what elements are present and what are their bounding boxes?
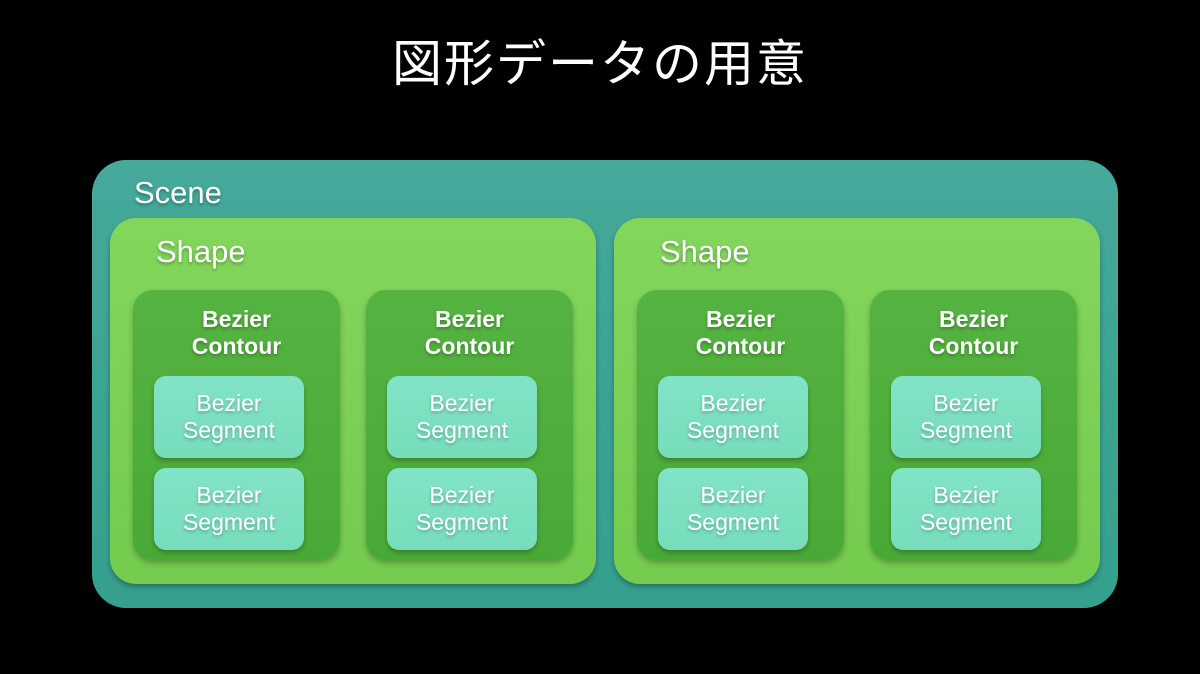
bezier-contour-container: Bezier Contour Bezier Segment Bezi (637, 290, 844, 560)
bezier-segment-label: Bezier Segment (183, 390, 275, 444)
contour-label-line1: Bezier (202, 306, 271, 332)
segment-stack: Bezier Segment Bezier Segment (891, 376, 1041, 550)
segment-label-line2: Segment (416, 509, 508, 535)
bezier-segment-label: Bezier Segment (920, 390, 1012, 444)
segment-label-line1: Bezier (933, 482, 998, 508)
bezier-segment: Bezier Segment (387, 468, 537, 550)
bezier-contour-label: Bezier Contour (133, 306, 340, 360)
bezier-segment-label: Bezier Segment (687, 482, 779, 536)
contour-row: Bezier Contour Bezier Segment Bezi (637, 290, 1077, 560)
contour-label-line2: Contour (696, 333, 785, 359)
segment-label-line2: Segment (416, 417, 508, 443)
shape-container: Shape Bezier Contour Bezier Segment (614, 218, 1100, 584)
bezier-segment: Bezier Segment (154, 376, 304, 458)
bezier-segment-label: Bezier Segment (416, 390, 508, 444)
scene-label: Scene (134, 176, 222, 210)
bezier-segment: Bezier Segment (658, 468, 808, 550)
bezier-contour-container: Bezier Contour Bezier Segment Bezi (133, 290, 340, 560)
bezier-segment: Bezier Segment (387, 376, 537, 458)
contour-label-line2: Contour (929, 333, 1018, 359)
slide-title: 図形データの用意 (0, 34, 1200, 94)
bezier-segment-label: Bezier Segment (183, 482, 275, 536)
bezier-contour-container: Bezier Contour Bezier Segment Bezi (870, 290, 1077, 560)
bezier-contour-container: Bezier Contour Bezier Segment Bezi (366, 290, 573, 560)
shape-container: Shape Bezier Contour Bezier Segment (110, 218, 596, 584)
contour-label-line2: Contour (192, 333, 281, 359)
bezier-segment: Bezier Segment (658, 376, 808, 458)
contour-label-line1: Bezier (435, 306, 504, 332)
segment-label-line1: Bezier (429, 482, 494, 508)
shape-label: Shape (156, 235, 246, 269)
contour-row: Bezier Contour Bezier Segment Bezi (133, 290, 573, 560)
segment-label-line2: Segment (920, 417, 1012, 443)
segment-label-line1: Bezier (196, 482, 261, 508)
scene-container: Scene Shape Bezier Contour Bezier Segmen… (92, 160, 1118, 608)
segment-label-line2: Segment (920, 509, 1012, 535)
segment-label-line1: Bezier (429, 390, 494, 416)
contour-label-line1: Bezier (939, 306, 1008, 332)
bezier-segment-label: Bezier Segment (920, 482, 1012, 536)
bezier-contour-label: Bezier Contour (637, 306, 844, 360)
bezier-segment: Bezier Segment (891, 468, 1041, 550)
bezier-segment: Bezier Segment (891, 376, 1041, 458)
shape-row: Shape Bezier Contour Bezier Segment (110, 218, 1100, 584)
bezier-segment-label: Bezier Segment (416, 482, 508, 536)
segment-label-line1: Bezier (700, 390, 765, 416)
shape-label: Shape (660, 235, 750, 269)
bezier-segment-label: Bezier Segment (687, 390, 779, 444)
segment-label-line2: Segment (687, 417, 779, 443)
segment-label-line1: Bezier (933, 390, 998, 416)
segment-label-line2: Segment (183, 509, 275, 535)
segment-label-line2: Segment (687, 509, 779, 535)
bezier-segment: Bezier Segment (154, 468, 304, 550)
segment-label-line1: Bezier (196, 390, 261, 416)
segment-stack: Bezier Segment Bezier Segment (658, 376, 808, 550)
segment-label-line2: Segment (183, 417, 275, 443)
contour-label-line1: Bezier (706, 306, 775, 332)
contour-label-line2: Contour (425, 333, 514, 359)
segment-stack: Bezier Segment Bezier Segment (154, 376, 304, 550)
segment-stack: Bezier Segment Bezier Segment (387, 376, 537, 550)
bezier-contour-label: Bezier Contour (870, 306, 1077, 360)
segment-label-line1: Bezier (700, 482, 765, 508)
bezier-contour-label: Bezier Contour (366, 306, 573, 360)
